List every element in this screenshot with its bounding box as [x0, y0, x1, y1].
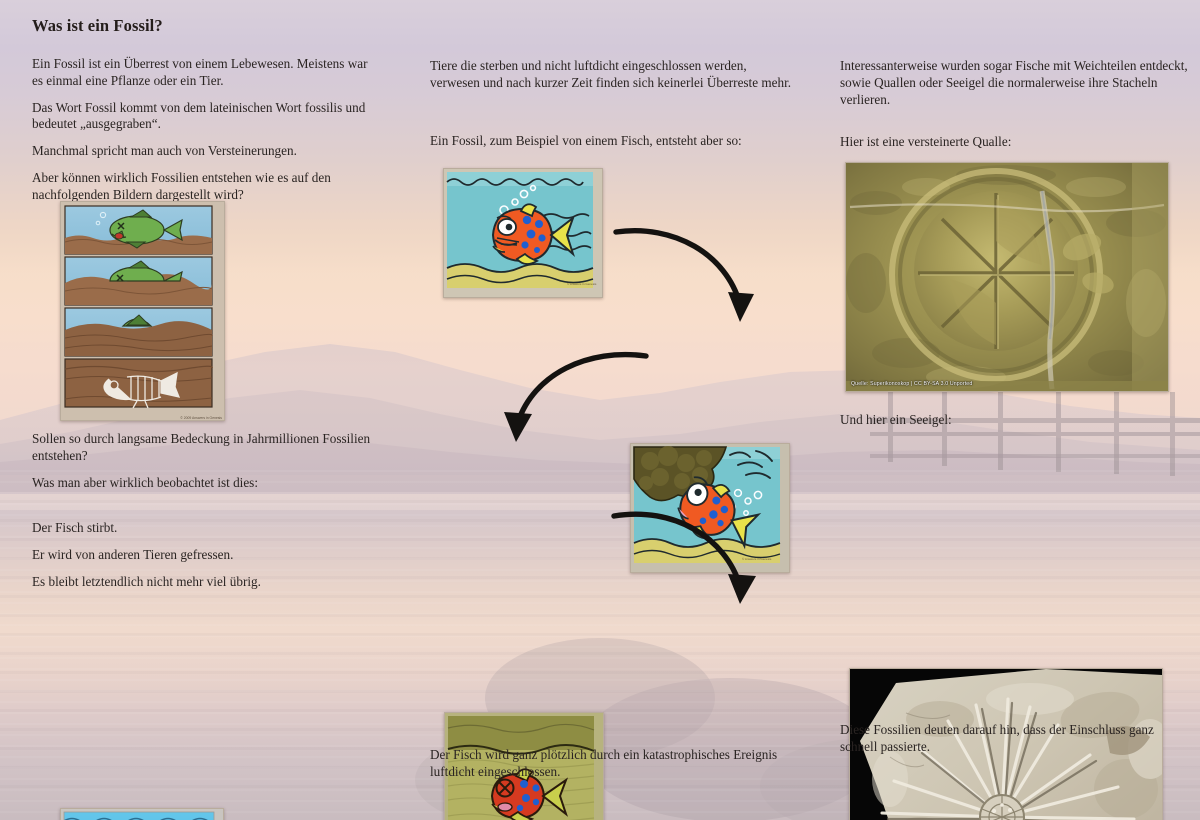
jellyfish-photo-credit: Quelle: Superikonoskop | CC BY-SA 3.0 Un… — [851, 381, 972, 387]
left-question: Sollen so durch langsame Bedeckung in Ja… — [32, 431, 377, 465]
middle-paragraph-1: Tiere die sterben und nicht luftdicht ei… — [430, 58, 796, 92]
step-1-art: © Answers in Genesis — [447, 172, 593, 288]
figure-step-1-living-fish: © Answers in Genesis — [443, 168, 603, 298]
left-observation-1: Der Fisch stirbt. — [32, 520, 377, 537]
left-observation-3: Es bleibt letztendlich nicht mehr viel ü… — [32, 574, 377, 591]
arrow-step-3-to-4 — [608, 498, 778, 618]
figure-decay-comic: © 2009 Answers in Genesis — [60, 808, 224, 820]
right-conclusion: Diese Fossilien deuten darauf hin, dass … — [840, 722, 1192, 756]
right-intro: Interessanterweise wurden sogar Fische m… — [840, 58, 1192, 108]
comic-signature: © 2009 Answers in Genesis — [180, 416, 222, 420]
left-paragraph-1: Ein Fossil ist ein Überrest von einem Le… — [32, 56, 380, 90]
jellyfish-label: Hier ist eine versteinerte Qualle: — [840, 134, 1192, 151]
decay-comic-art — [64, 812, 214, 820]
arrow-step-1-to-2 — [610, 218, 780, 338]
fossil-jellyfish-photo — [846, 163, 1168, 391]
urchin-label: Und hier ein Seeigel: — [840, 412, 1192, 429]
left-observation-2: Er wird von anderen Tieren gefressen. — [32, 547, 377, 564]
left-observation-intro: Was man aber wirklich beobachtet ist die… — [32, 475, 377, 492]
left-paragraph-4: Aber können wirklich Fossilien entstehen… — [32, 170, 380, 204]
middle-paragraph-2: Ein Fossil, zum Beispiel von einem Fisch… — [430, 133, 796, 150]
right-column: Interessanterweise wurden sogar Fische m… — [840, 0, 1200, 486]
arrow-step-2-to-3 — [492, 348, 652, 458]
middle-caption: Der Fisch wird ganz plötzlich durch ein … — [430, 747, 792, 781]
svg-text:© Answers in Genesis: © Answers in Genesis — [567, 282, 597, 286]
slow-burial-comic-art — [65, 206, 212, 408]
left-column: Ein Fossil ist ein Überrest von einem Le… — [32, 0, 404, 420]
figure-fossil-jellyfish: Quelle: Superikonoskop | CC BY-SA 3.0 Un… — [845, 162, 1169, 392]
left-paragraph-2: Das Wort Fossil kommt von dem lateinisch… — [32, 100, 380, 134]
left-paragraph-3: Manchmal spricht man auch von Versteiner… — [32, 143, 380, 160]
middle-column: Tiere die sterben und nicht luftdicht ei… — [430, 0, 802, 524]
poster-canvas: Was ist ein Fossil? Ein Fossil ist ein Ü… — [0, 0, 1200, 820]
figure-slow-burial-comic: © 2009 Answers in Genesis — [60, 201, 225, 421]
